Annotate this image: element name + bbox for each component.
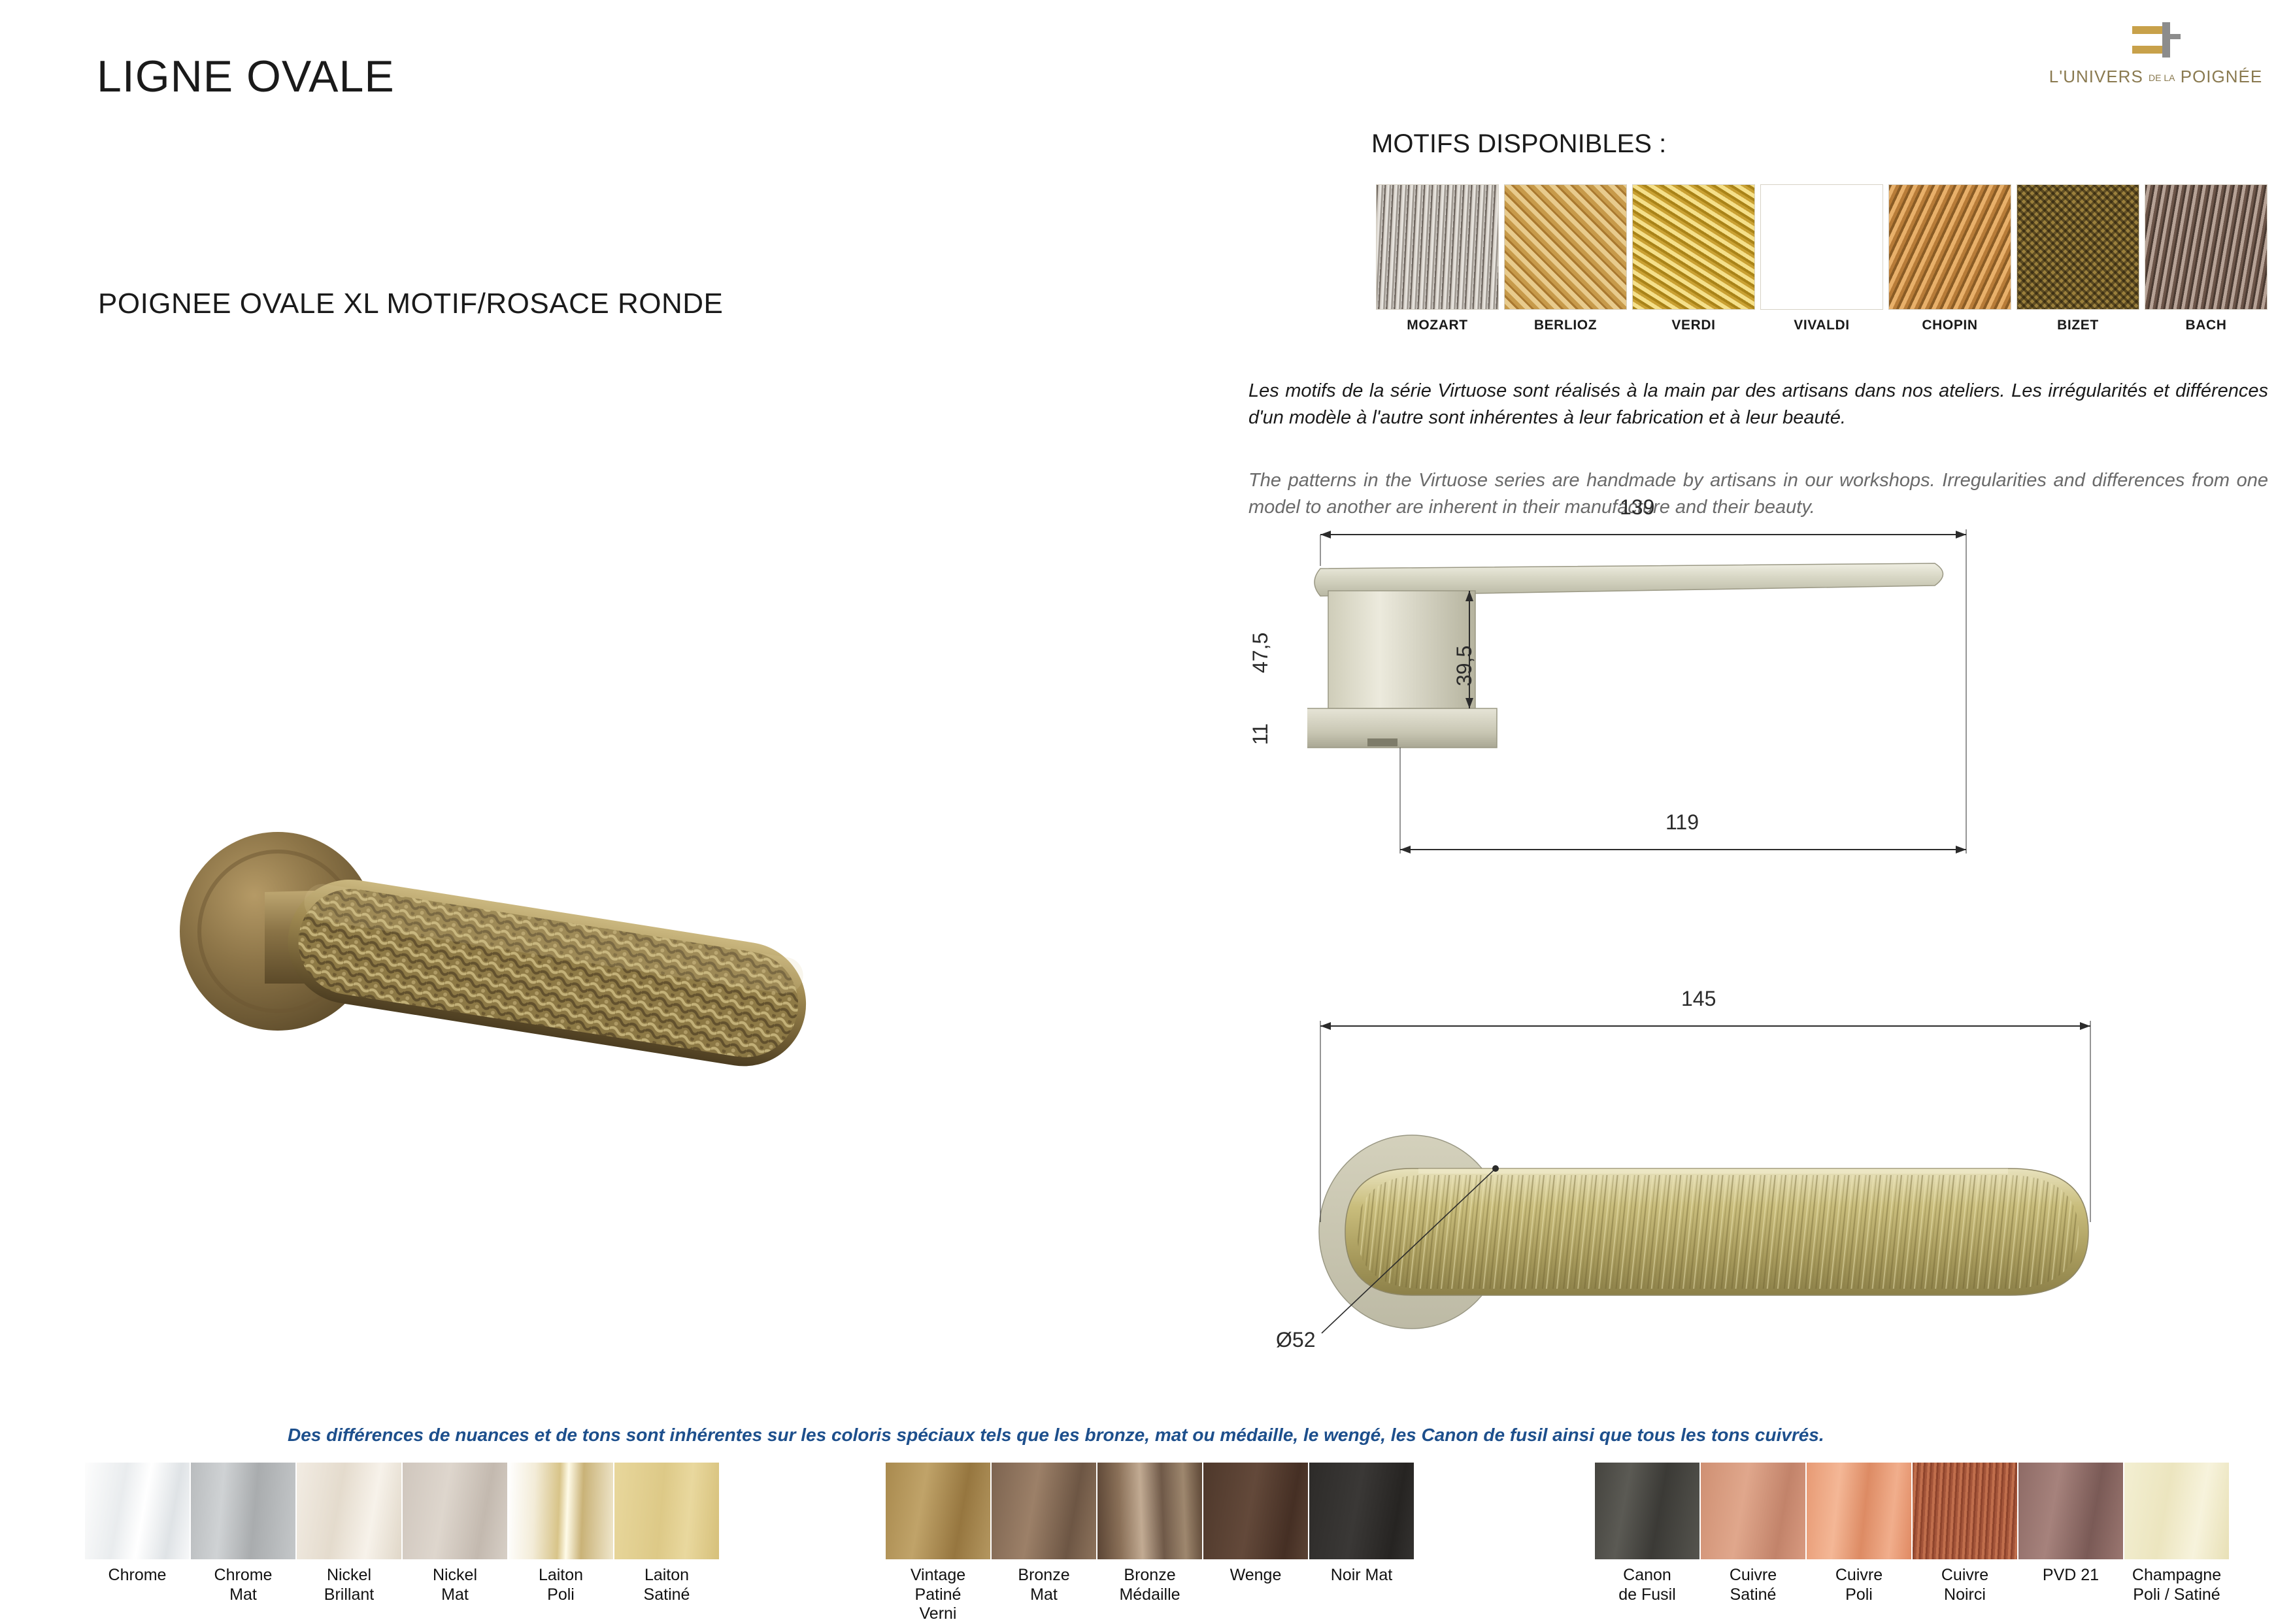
motif-label: VERDI — [1632, 318, 1755, 333]
finishes-note: Des différences de nuances et de tons so… — [288, 1425, 1824, 1446]
finish-swatch-cuivre-satin — [1701, 1463, 1805, 1559]
finish-vintage-patin-verni[interactable]: Vintage PatinéVerni — [886, 1463, 990, 1624]
motif-berlioz[interactable]: BERLIOZ — [1504, 184, 1627, 333]
finish-label: Chrome — [85, 1566, 190, 1585]
brand-logo: L'UNIVERS DE LA POIGNÉE — [2032, 20, 2280, 87]
finish-chrome-mat[interactable]: ChromeMat — [191, 1463, 295, 1604]
drawing-top-view: 145 Ø52 — [1307, 1006, 2183, 1490]
logo-text-left: L'UNIVERS — [2049, 67, 2143, 86]
finish-noir-mat[interactable]: Noir Mat — [1309, 1463, 1414, 1624]
finish-label: Noir Mat — [1309, 1566, 1414, 1585]
dim-side-length-offset: 119 — [1665, 810, 1699, 835]
finish-label: Wenge — [1203, 1566, 1308, 1585]
dim-side-height-inner: 39,5 — [1452, 646, 1477, 686]
finish-swatch-laiton-satin — [614, 1463, 719, 1559]
motif-swatch-vivaldi — [1760, 184, 1883, 310]
finish-swatch-bronze-m-daille — [1097, 1463, 1202, 1559]
motif-label: VIVALDI — [1760, 318, 1883, 333]
finish-label: BronzeMédaille — [1097, 1566, 1202, 1604]
finish-label: NickelMat — [403, 1566, 507, 1604]
finish-nickel-brillant[interactable]: NickelBrillant — [297, 1463, 401, 1604]
finish-swatch-bronze-mat — [992, 1463, 1096, 1559]
motifs-heading: MOTIFS DISPONIBLES : — [1371, 129, 1666, 159]
finish-swatch-pvd-21 — [2018, 1463, 2123, 1559]
motif-swatch-chopin — [1888, 184, 2011, 310]
motif-swatch-bach — [2145, 184, 2268, 310]
finish-cuivre-poli[interactable]: CuivrePoli — [1807, 1463, 1911, 1604]
finish-nickel-mat[interactable]: NickelMat — [403, 1463, 507, 1604]
product-subtitle: POIGNEE OVALE XL MOTIF/ROSACE RONDE — [98, 288, 723, 320]
product-photo — [167, 768, 971, 1134]
motif-swatch-mozart — [1376, 184, 1499, 310]
finish-label: CuivreNoirci — [1913, 1566, 2017, 1604]
motif-label: MOZART — [1376, 318, 1499, 333]
motif-bizet[interactable]: BIZET — [2017, 184, 2139, 333]
motif-label: BIZET — [2017, 318, 2139, 333]
finish-label: CuivreSatiné — [1701, 1566, 1805, 1604]
virtuose-note-fr: Les motifs de la série Virtuose sont réa… — [1248, 378, 2268, 431]
motif-verdi[interactable]: VERDI — [1632, 184, 1755, 333]
finish-swatch-chrome-mat — [191, 1463, 295, 1559]
finish-label: NickelBrillant — [297, 1566, 401, 1604]
motif-swatch-bizet — [2017, 184, 2139, 310]
finish-swatch-chrome — [85, 1463, 190, 1559]
motif-bach[interactable]: BACH — [2145, 184, 2268, 333]
motif-swatch-verdi — [1632, 184, 1755, 310]
finish-label: PVD 21 — [2018, 1566, 2123, 1585]
finish-swatch-cuivre-noirci — [1913, 1463, 2017, 1559]
finish-laiton-satin[interactable]: LaitonSatiné — [614, 1463, 719, 1604]
logo-text: L'UNIVERS DE LA POIGNÉE — [2032, 67, 2280, 87]
finish-pvd-21[interactable]: PVD 21 — [2018, 1463, 2123, 1604]
finish-cuivre-noirci[interactable]: CuivreNoirci — [1913, 1463, 2017, 1604]
motif-label: BACH — [2145, 318, 2268, 333]
finish-group-copper: Canonde FusilCuivreSatinéCuivrePoliCuivr… — [1595, 1463, 2230, 1604]
finish-swatch-cuivre-poli — [1807, 1463, 1911, 1559]
finish-swatch-noir-mat — [1309, 1463, 1414, 1559]
motifs-list: MOZARTBERLIOZVERDIVIVALDICHOPINBIZETBACH — [1376, 184, 2268, 333]
finish-cuivre-satin[interactable]: CuivreSatiné — [1701, 1463, 1805, 1604]
finish-swatch-champagne-poli-satin — [2124, 1463, 2229, 1559]
finish-champagne-poli-satin[interactable]: ChampagnePoli / Satiné — [2124, 1463, 2229, 1604]
motif-label: BERLIOZ — [1504, 318, 1627, 333]
finish-bronze-m-daille[interactable]: BronzeMédaille — [1097, 1463, 1202, 1624]
finish-swatch-laiton-poli — [509, 1463, 613, 1559]
drawing-side-view: 139 47,5 39,5 11 119 — [1307, 523, 2183, 941]
finish-swatch-vintage-patin-verni — [886, 1463, 990, 1559]
logo-mark-icon — [2128, 20, 2183, 63]
motif-swatch-berlioz — [1504, 184, 1627, 310]
finish-group-special: Vintage PatinéVerniBronzeMatBronzeMédail… — [886, 1463, 1415, 1624]
motif-mozart[interactable]: MOZART — [1376, 184, 1499, 333]
finish-swatch-canon-de-fusil — [1595, 1463, 1699, 1559]
finish-chrome[interactable]: Chrome — [85, 1463, 190, 1604]
motif-chopin[interactable]: CHOPIN — [1888, 184, 2011, 333]
finish-swatch-wenge — [1203, 1463, 1308, 1559]
finish-swatch-nickel-mat — [403, 1463, 507, 1559]
finish-laiton-poli[interactable]: LaitonPoli — [509, 1463, 613, 1604]
finish-label: Vintage PatinéVerni — [886, 1566, 990, 1624]
dim-top-length: 145 — [1681, 987, 1716, 1011]
logo-text-mid: DE LA — [2149, 73, 2175, 83]
finish-swatch-nickel-brillant — [297, 1463, 401, 1559]
finish-label: Canonde Fusil — [1595, 1566, 1699, 1604]
logo-text-right: POIGNÉE — [2181, 67, 2262, 86]
dim-rose-height: 11 — [1248, 723, 1273, 745]
dim-side-height-total: 47,5 — [1248, 633, 1273, 673]
finish-label: CuivrePoli — [1807, 1566, 1911, 1604]
finish-group-standard: ChromeChromeMatNickelBrillantNickelMatLa… — [85, 1463, 720, 1604]
finish-wenge[interactable]: Wenge — [1203, 1463, 1308, 1624]
dim-rose-diameter: Ø52 — [1276, 1328, 1315, 1352]
finish-label: ChromeMat — [191, 1566, 295, 1604]
dim-side-width: 139 — [1620, 495, 1654, 520]
page-title: LIGNE OVALE — [97, 51, 395, 102]
finish-label: BronzeMat — [992, 1566, 1096, 1604]
finish-label: LaitonSatiné — [614, 1566, 719, 1604]
virtuose-note-en: The patterns in the Virtuose series are … — [1248, 467, 2268, 521]
finish-canon-de-fusil[interactable]: Canonde Fusil — [1595, 1463, 1699, 1604]
motif-label: CHOPIN — [1888, 318, 2011, 333]
finish-bronze-mat[interactable]: BronzeMat — [992, 1463, 1096, 1624]
finish-label: LaitonPoli — [509, 1566, 613, 1604]
finish-label: ChampagnePoli / Satiné — [2124, 1566, 2229, 1604]
motif-vivaldi[interactable]: VIVALDI — [1760, 184, 1883, 333]
